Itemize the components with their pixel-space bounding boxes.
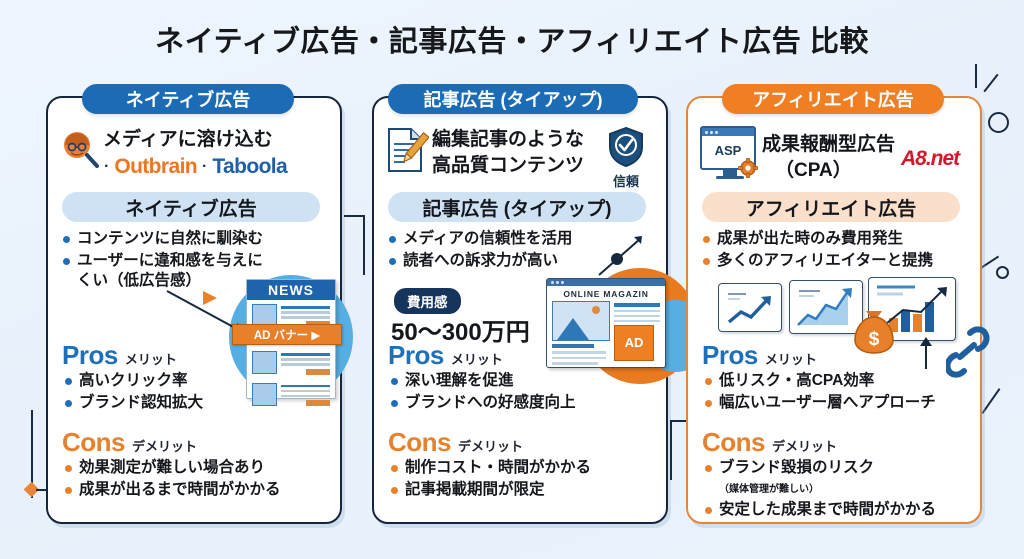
news-lines xyxy=(281,383,330,406)
cons-label-ja: デメリット xyxy=(458,439,523,454)
connector-col2-col3-vert xyxy=(670,420,672,480)
native-cons-heading: Consデメリット xyxy=(62,427,197,458)
list-item: ブランドへの好感度向上 xyxy=(390,393,630,413)
list-item: コンテンツに自然に馴染む xyxy=(62,229,270,249)
native-pros-heading: Prosメリット xyxy=(62,340,177,371)
trust-shield-label: 信頼 xyxy=(603,171,649,190)
pros-label-en: Pros xyxy=(388,340,444,370)
list-item: 成果が出るまで時間がかかる xyxy=(64,480,314,500)
list-item: ブランド認知拡大 xyxy=(64,393,264,413)
news-line xyxy=(281,353,330,356)
decor-circle-right xyxy=(988,112,1009,133)
tieup-cons-list: 制作コスト・時間がかかる 記事掲載期間が限定 xyxy=(390,458,640,502)
list-item: メディアの信頼性を活用 xyxy=(388,229,618,249)
tieup-subband: 記事広告 (タイアップ) xyxy=(388,192,646,222)
news-lines xyxy=(281,351,330,374)
list-item: 多くのアフィリエイターと提携 xyxy=(702,251,952,271)
native-pros-list: 高いクリック率 ブランド認知拡大 xyxy=(64,371,264,415)
decor-diamond-left xyxy=(24,482,40,498)
trust-shield: 信頼 xyxy=(603,126,649,190)
magazine-mock-titlebar xyxy=(547,279,665,286)
list-item: 深い理解を促進 xyxy=(390,371,630,391)
document-pencil-icon xyxy=(383,126,429,174)
native-subband: ネイティブ広告 xyxy=(62,192,320,222)
list-item: 幅広いユーザー層へアプローチ xyxy=(704,393,960,413)
news-line xyxy=(281,306,330,309)
news-line xyxy=(281,390,330,393)
a8net-logo-text: A8.net xyxy=(901,147,959,170)
cons-label-ja: デメリット xyxy=(132,439,197,454)
asp-monitor-icon: ASP xyxy=(700,126,760,182)
list-item: 高いクリック率 xyxy=(64,371,264,391)
tieup-feature-list: メディアの信頼性を活用 読者への訴求力が高い xyxy=(388,229,618,273)
ad-banner-label: AD バナー ▶ xyxy=(232,324,342,345)
cons-label-en: Cons xyxy=(388,427,451,457)
native-feature-list: コンテンツに自然に馴染む ユーザーに違和感を与えにくい（低広告感） xyxy=(62,229,270,293)
news-line xyxy=(281,395,330,398)
a8net-logo: A8.net xyxy=(901,147,959,171)
decor-line-left-vertical xyxy=(31,410,33,498)
pros-label-en: Pros xyxy=(62,340,118,370)
news-line xyxy=(281,311,330,314)
logo-separator-2: · xyxy=(202,158,207,176)
affiliate-pros-list: 低リスク・高CPA効率 幅広いユーザー層へアプローチ xyxy=(704,371,960,415)
connector-col1-col2-vert xyxy=(363,215,365,275)
decor-node-dot-upper xyxy=(996,266,1009,279)
pros-label-ja: メリット xyxy=(451,352,503,367)
native-lead-text: メディアに溶け込む xyxy=(103,129,313,151)
affiliate-subband: アフィリエイト広告 xyxy=(702,192,960,222)
news-line xyxy=(281,316,330,319)
affiliate-cons-heading: Consデメリット xyxy=(702,427,837,458)
asp-titlebar xyxy=(702,128,754,136)
tieup-lead-line2: 高品質コンテンツ xyxy=(432,155,584,177)
outbrain-logo: Outbrain xyxy=(114,155,197,179)
affiliate-up-arrow xyxy=(915,336,937,370)
tieup-trend-icon xyxy=(596,233,646,281)
tieup-cons-heading: Consデメリット xyxy=(388,427,523,458)
media-person-icon xyxy=(60,129,100,169)
pros-label-en: Pros xyxy=(702,340,758,370)
list-item: 読者への訴求力が高い xyxy=(388,251,618,271)
column-header-native: ネイティブ広告 xyxy=(82,84,294,114)
gear-icon xyxy=(738,158,758,178)
cons-text: ブランド毀損のリスク xyxy=(719,459,874,476)
list-item: ブランド毀損のリスク（媒体管理が難しい） xyxy=(704,458,972,498)
decor-line-right-tick xyxy=(975,64,977,88)
cons-label-en: Cons xyxy=(702,427,765,457)
svg-text:$: $ xyxy=(869,329,880,350)
list-item: 効果測定が難しい場合あり xyxy=(64,458,314,478)
magazine-mock: ONLINE MAGAZIN AD xyxy=(546,278,666,368)
shield-check-icon xyxy=(606,126,646,168)
news-line xyxy=(281,385,330,388)
list-item: 記事掲載期間が限定 xyxy=(390,480,640,500)
affiliate-pros-heading: Prosメリット xyxy=(702,340,817,371)
decor-line-right-bottom xyxy=(982,388,1001,414)
news-mock-title: NEWS xyxy=(247,280,335,300)
money-bag-icon: $ xyxy=(850,303,898,355)
news-line xyxy=(281,358,330,361)
news-cta xyxy=(306,400,330,406)
tieup-lead-line1: 編集記事のような xyxy=(432,129,584,151)
cost-badge: 費用感 xyxy=(394,288,461,314)
magazine-mock-title: ONLINE MAGAZIN xyxy=(547,286,665,301)
affiliate-feature-list: 成果が出た時のみ費用発生 多くのアフィリエイターと提携 xyxy=(702,229,952,273)
news-cta xyxy=(306,369,330,375)
affiliate-lead-line1: 成果報酬型広告 xyxy=(762,134,895,156)
list-item: 制作コスト・時間がかかる xyxy=(390,458,640,478)
column-header-tieup: 記事広告 (タイアップ) xyxy=(388,84,638,114)
taboola-logo: Taboola xyxy=(212,155,287,179)
list-item: 成果が出た時のみ費用発生 xyxy=(702,229,952,249)
cons-label-ja: デメリット xyxy=(772,439,837,454)
magazine-column: AD xyxy=(614,301,660,365)
magazine-ad-label: AD xyxy=(614,325,654,361)
cons-label-en: Cons xyxy=(62,427,125,457)
connector-col1-col2 xyxy=(344,215,364,217)
tieup-pros-list: 深い理解を促進 ブランドへの好感度向上 xyxy=(390,371,630,415)
affiliate-lead-line2: （CPA） xyxy=(775,160,852,182)
news-line xyxy=(281,363,330,366)
cons-note: （媒体管理が難しい） xyxy=(719,484,819,495)
magazine-image xyxy=(552,301,610,341)
column-header-affiliate: アフィリエイト広告 xyxy=(722,84,944,114)
logo-separator-1: · xyxy=(104,158,109,176)
pros-label-ja: メリット xyxy=(125,352,177,367)
native-cons-list: 効果測定が難しい場合あり 成果が出るまで時間がかかる xyxy=(64,458,314,502)
pros-label-ja: メリット xyxy=(765,352,817,367)
list-item: 低リスク・高CPA効率 xyxy=(704,371,960,391)
magazine-mock-body: AD xyxy=(547,301,665,369)
decor-line-right-slash xyxy=(983,74,998,93)
tieup-pros-heading: Prosメリット xyxy=(388,340,503,371)
list-item: 安定した成果まで時間がかかる xyxy=(704,500,972,520)
page-title: ネイティブ広告・記事広告・アフィリエイト広告 比較 xyxy=(0,18,1024,60)
affiliate-cons-list: ブランド毀損のリスク（媒体管理が難しい） 安定した成果まで時間がかかる xyxy=(704,458,972,522)
chart-card-1 xyxy=(718,283,782,332)
